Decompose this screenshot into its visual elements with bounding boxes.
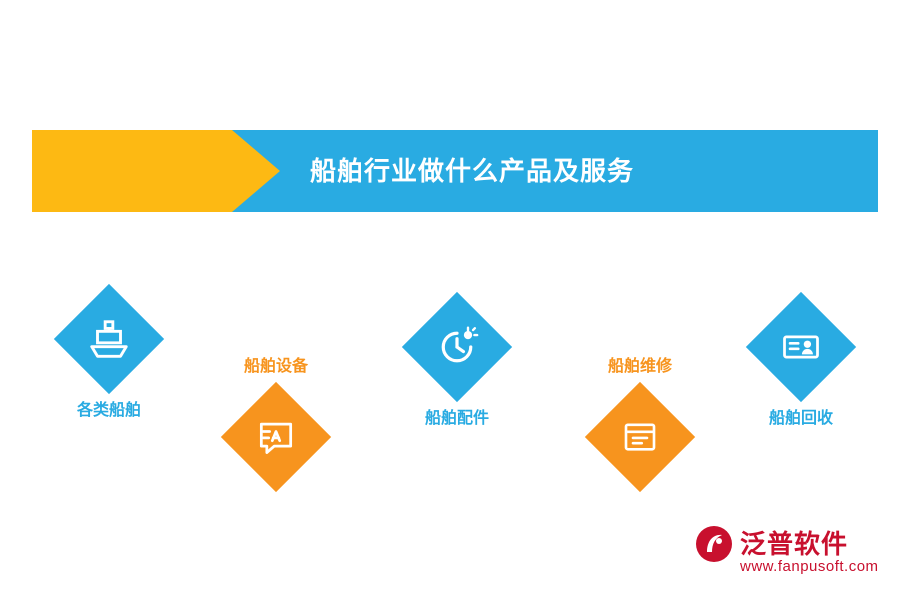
item-label-various-ships: 各类船舶: [9, 396, 209, 420]
document-a-icon: [237, 398, 315, 476]
item-label-ship-parts: 船舶配件: [357, 404, 557, 428]
clipboard-icon: [601, 398, 679, 476]
item-ship-equipment[interactable]: 船舶设备: [237, 398, 315, 476]
diamond-shape-ship-equipment: [221, 382, 331, 492]
diamond-shape-ship-parts: [402, 292, 512, 402]
page-title: 船舶行业做什么产品及服务: [310, 130, 634, 212]
diamond-shape-ship-recycling: [746, 292, 856, 402]
item-label-ship-recycling: 船舶回收: [701, 404, 900, 428]
gear-clock-icon: [418, 308, 496, 386]
diamond-shape-ship-maintenance: [585, 382, 695, 492]
ship-icon: [70, 300, 148, 378]
diamond-shape-various-ships: [54, 284, 164, 394]
item-label-ship-maintenance: 船舶维修: [540, 352, 740, 376]
banner-yellow-block: [32, 130, 232, 212]
item-label-ship-equipment: 船舶设备: [176, 352, 376, 376]
item-ship-maintenance[interactable]: 船舶维修: [601, 398, 679, 476]
item-various-ships[interactable]: 各类船舶: [70, 300, 148, 378]
item-ship-parts[interactable]: 船舶配件: [418, 308, 496, 386]
title-banner: 船舶行业做什么产品及服务: [32, 130, 878, 212]
item-ship-recycling[interactable]: 船舶回收: [762, 308, 840, 386]
contact-card-icon: [762, 308, 840, 386]
logo-website-url: www.fanpusoft.com: [740, 558, 879, 575]
logo-company-name: 泛普软件: [740, 524, 848, 561]
banner-arrow-icon: [232, 130, 280, 212]
brand-logo: 泛普软件 www.fanpusoft.com: [694, 522, 884, 582]
logo-mark-icon: [694, 524, 734, 564]
